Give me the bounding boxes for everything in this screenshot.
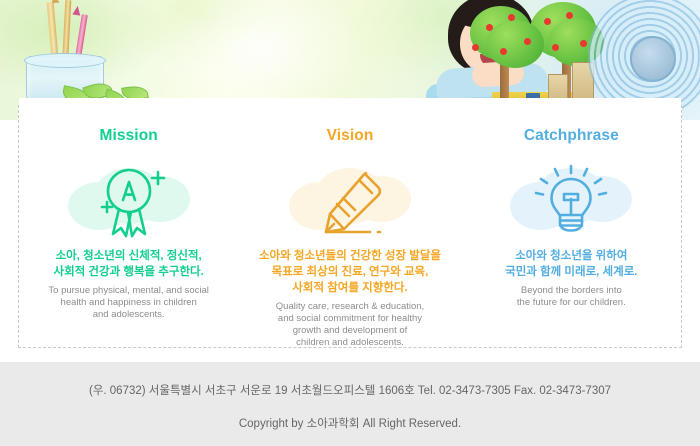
vision-korean-line-3: 사회적 참여를 지향한다. — [239, 280, 460, 296]
catchphrase-title: Catchphrase — [461, 128, 682, 144]
mission-english-line-3: and adolescents. — [18, 309, 239, 321]
pencil-tip-icon — [72, 5, 81, 15]
award-medal-icon — [85, 162, 173, 242]
catchphrase-english-line-1: Beyond the borders into — [461, 285, 682, 297]
apple-icon — [472, 44, 479, 51]
apple-icon — [552, 44, 559, 51]
vision-icon-wrap — [239, 156, 460, 248]
mission-icon-wrap — [18, 156, 239, 248]
value-column-mission: Mission 소아, 청소년의 신체적, 정신적, — [18, 105, 239, 348]
tree-icon — [486, 20, 544, 68]
lightbulb-icon — [527, 162, 615, 242]
catchphrase-korean-line-1: 소아와 청소년을 위하여 — [461, 248, 682, 264]
vision-title: Vision — [239, 128, 460, 144]
apple-icon — [524, 38, 531, 45]
spiral-core — [630, 36, 676, 82]
apple-icon — [500, 48, 507, 55]
vision-english-line-4: children and adolescents. — [239, 337, 460, 349]
catchphrase-korean-line-2: 국민과 함께 미래로, 세계로. — [461, 264, 682, 280]
mission-korean-line-2: 사회적 건강과 행복을 추구한다. — [18, 264, 239, 280]
vision-english-line-2: and social commitment for healthy — [239, 313, 460, 325]
apple-icon — [486, 24, 493, 31]
vision-english-line-1: Quality care, research & education, — [239, 301, 460, 313]
value-column-vision: Vision — [239, 105, 460, 348]
mission-english-line-2: health and happiness in children — [18, 297, 239, 309]
vision-korean-line-1: 소아와 청소년들의 건강한 성장 발달을 — [239, 248, 460, 264]
vision-english-line-3: growth and development of — [239, 325, 460, 337]
apple-icon — [566, 12, 573, 19]
values-columns: Mission 소아, 청소년의 신체적, 정신적, — [18, 105, 682, 348]
site-footer: (우. 06732) 서울특별시 서초구 서운로 19 서초월드오피스텔 160… — [0, 362, 700, 446]
mission-korean-line-1: 소아, 청소년의 신체적, 정신적, — [18, 248, 239, 264]
catchphrase-icon-wrap — [461, 156, 682, 248]
apple-icon — [580, 40, 587, 47]
cup-rim — [24, 53, 106, 68]
vision-korean-line-2: 목표로 최상의 진료, 연구와 교육, — [239, 264, 460, 280]
mission-english-line-1: To pursue physical, mental, and social — [18, 285, 239, 297]
pencil-icon — [306, 162, 394, 242]
apple-icon — [508, 14, 515, 21]
page-root: Mission 소아, 청소년의 신체적, 정신적, — [0, 0, 700, 446]
apple-icon — [544, 18, 551, 25]
catchphrase-english-line-2: the future for our children. — [461, 297, 682, 309]
footer-address: (우. 06732) 서울특별시 서초구 서운로 19 서초월드오피스텔 160… — [0, 386, 700, 398]
mission-title: Mission — [18, 128, 239, 144]
footer-copyright: Copyright by 소아과학회 All Right Reserved. — [0, 419, 700, 431]
value-column-catchphrase: Catchphrase — [461, 105, 682, 348]
